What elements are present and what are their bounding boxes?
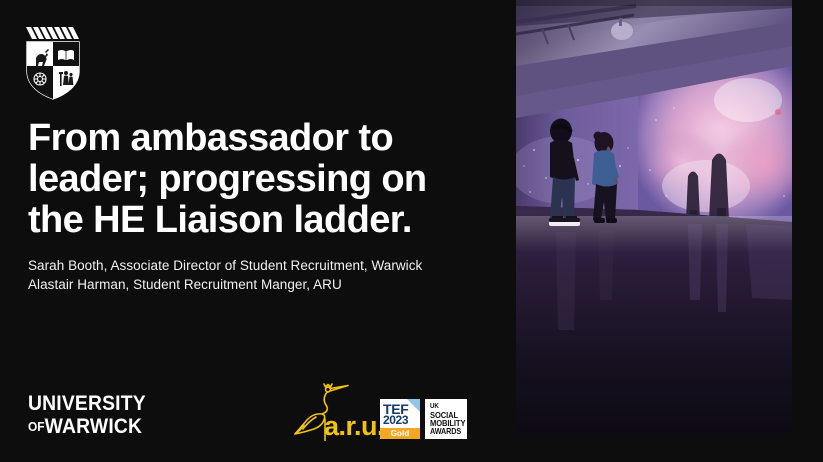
tef-year: 2023 <box>383 414 408 426</box>
immersive-gallery-photo <box>516 0 792 433</box>
wordmark-university: UNIVERSITY <box>28 393 146 414</box>
speaker-line-2: Alastair Harman, Student Recruitment Man… <box>28 275 498 294</box>
wordmark-of: OF <box>28 419 45 434</box>
speaker-credits: Sarah Booth, Associate Director of Stude… <box>28 256 498 294</box>
speaker-line-1: Sarah Booth, Associate Director of Stude… <box>28 256 498 275</box>
sma-line-4: AWARDS <box>430 428 459 436</box>
aru-wordmark: a.r.u. <box>324 413 384 440</box>
tef-rating: Gold <box>380 428 420 439</box>
footer-logo-row: UNIVERSITY OFWARWICK <box>28 383 488 441</box>
presentation-slide: From ambassador to leader; progressing o… <box>0 0 823 462</box>
uk-social-mobility-awards-badge: UK SOCIAL MOBILITY AWARDS <box>425 399 467 439</box>
title-line-1: From ambassador to <box>28 118 498 159</box>
slide-title: From ambassador to leader; progressing o… <box>28 118 498 241</box>
warwick-crest-icon <box>25 25 81 101</box>
university-of-warwick-wordmark: UNIVERSITY OFWARWICK <box>28 393 156 437</box>
tef-gold-badge: TEF 2023 Gold <box>380 399 420 439</box>
title-line-3: the HE Liaison ladder. <box>28 200 498 241</box>
wordmark-warwick: WARWICK <box>45 415 143 438</box>
title-line-2: leader; progressing on <box>28 159 498 200</box>
